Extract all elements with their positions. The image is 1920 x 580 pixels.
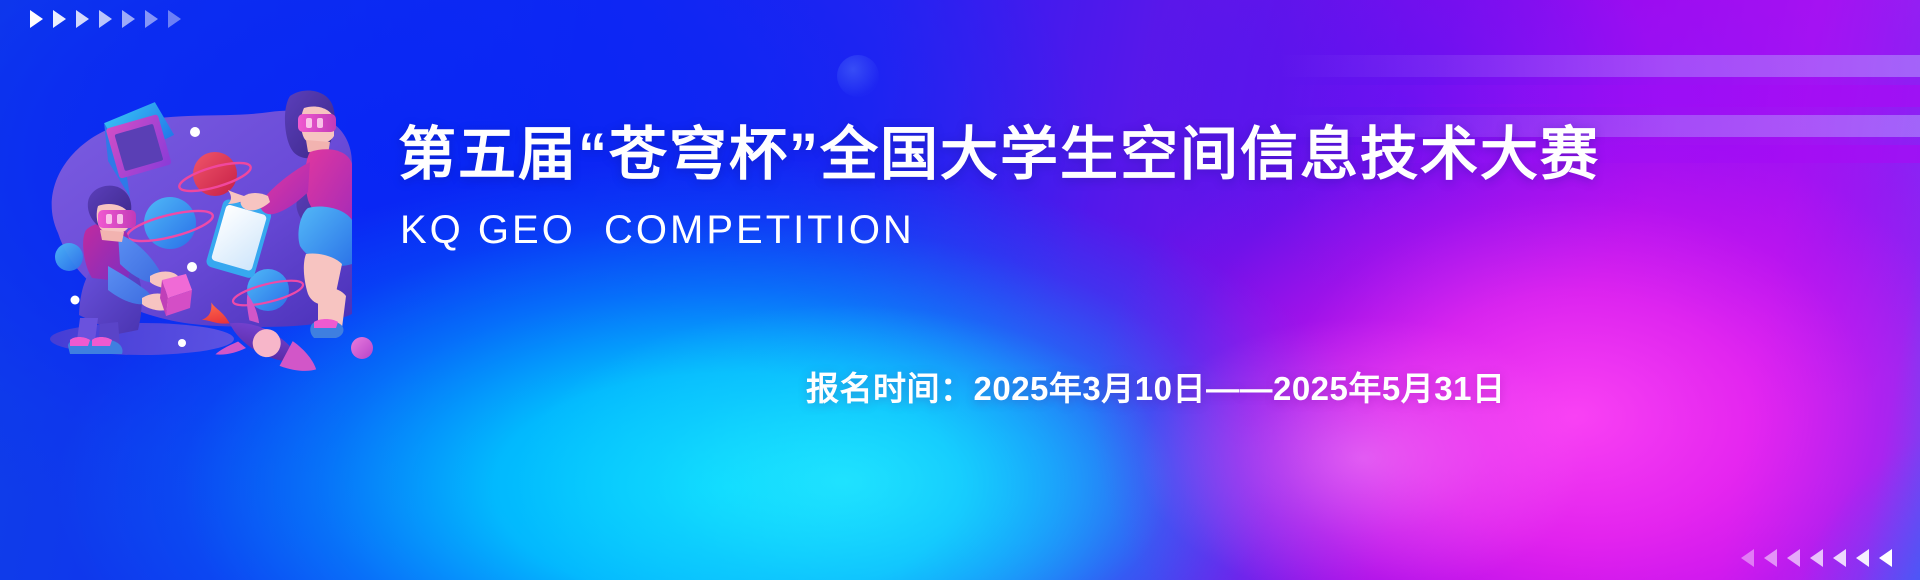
banner-subtitle: KQ GEO COMPETITION: [400, 208, 1600, 252]
stripe-light-1: [1280, 55, 1920, 77]
triangle-left-icon: [1856, 549, 1869, 567]
background-magenta-soft-glow: [1075, 278, 1651, 580]
registration-period-text: 报名时间：2025年3月10日——2025年5月31日: [806, 362, 1505, 410]
triangle-left-icon: [1833, 549, 1846, 567]
banner-text-block: 第五届“苍穹杯”全国大学生空间信息技术大赛 KQ GEO COMPETITION: [398, 123, 1600, 252]
triangle-right-icon: [99, 10, 112, 28]
triangle-right-icon: [30, 10, 43, 28]
star: [190, 127, 200, 137]
planet-blue-small: [55, 243, 83, 271]
bottom-right-arrow-row: [1741, 549, 1892, 567]
competition-banner: 第五届“苍穹杯”全国大学生空间信息技术大赛 KQ GEO COMPETITION…: [0, 0, 1920, 580]
vr-students-space-illustration: [22, 78, 352, 368]
star: [178, 339, 186, 347]
star: [71, 296, 80, 305]
triangle-right-icon: [122, 10, 135, 28]
triangle-right-icon: [76, 10, 89, 28]
triangle-left-icon: [1787, 549, 1800, 567]
triangle-left-icon: [1879, 549, 1892, 567]
stripe-dark-1: [1280, 85, 1920, 107]
triangle-right-icon: [53, 10, 66, 28]
triangle-left-icon: [1810, 549, 1823, 567]
triangle-right-icon: [145, 10, 158, 28]
background-blue-corner-glow: [1690, 325, 1920, 580]
background-orb: [837, 55, 879, 97]
triangle-left-icon: [1741, 549, 1754, 567]
planet-pink: [351, 337, 373, 359]
top-left-arrow-row: [30, 10, 181, 28]
page-title: 第五届“苍穹杯”全国大学生空间信息技术大赛: [398, 123, 1600, 188]
triangle-left-icon: [1764, 549, 1777, 567]
star: [187, 262, 197, 272]
triangle-right-icon: [168, 10, 181, 28]
